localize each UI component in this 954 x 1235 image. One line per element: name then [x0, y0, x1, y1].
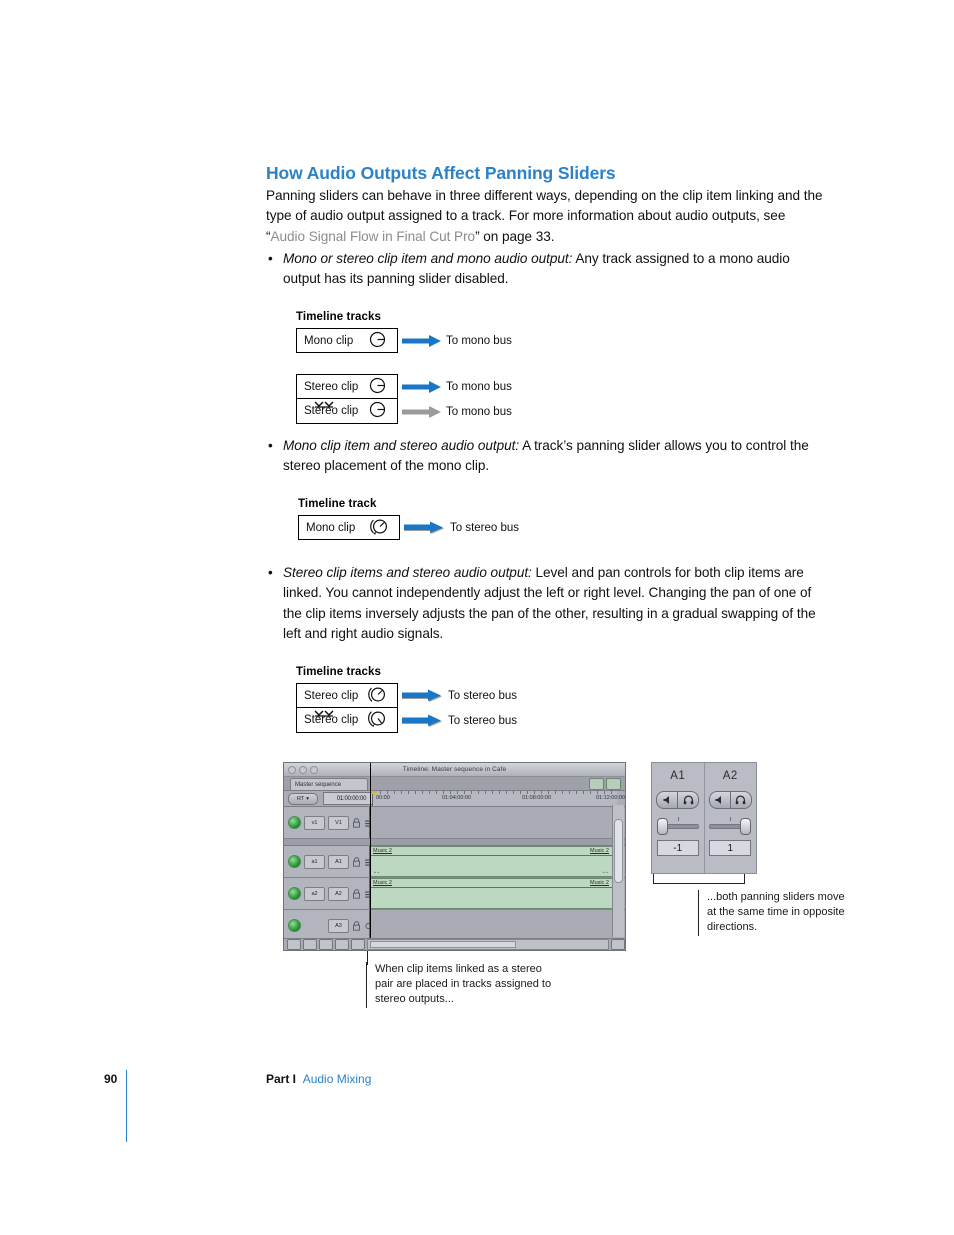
timeline-toggle-buttons[interactable] — [589, 778, 621, 790]
ruler-time-1: 01:04:00:00 — [442, 795, 471, 801]
arrow-mono-to-mono-bus: To mono bus — [402, 328, 512, 353]
track-header-v1[interactable]: v1 V1 — [284, 807, 370, 838]
track-group-mono: Mono clip To mono bus — [296, 328, 398, 353]
arrow-icon — [402, 334, 442, 348]
zoom-slider-icon[interactable] — [335, 939, 349, 950]
mute-icon[interactable] — [710, 792, 730, 808]
intro-text-after: ” on page 33. — [475, 229, 554, 244]
mute-icon[interactable] — [657, 792, 677, 808]
callout-left-text: When clip items linked as a stereo pair … — [366, 962, 560, 1008]
track-clip-label: Stereo clip — [304, 381, 358, 393]
channel-buttons-a1[interactable] — [656, 791, 699, 809]
footer-section: Audio Mixing — [303, 1072, 372, 1086]
bullet-text: Stereo clip items and stereo audio outpu… — [283, 563, 828, 645]
intro-cross-reference-link[interactable]: Audio Signal Flow in Final Cut Pro — [270, 229, 475, 244]
clip-level-line — [371, 855, 612, 856]
ruler-ticks — [372, 791, 617, 806]
track-group-stereo-pair-mono-out: Stereo clip Stereo clip — [296, 374, 398, 424]
arrow-label: To stereo bus — [450, 522, 519, 534]
arrow-stereo-top-to-stereo-bus: To stereo bus — [402, 683, 517, 708]
target-control-a2[interactable]: A2 — [328, 887, 349, 901]
footer-part: Part I — [266, 1072, 296, 1086]
stereo-link-icon — [314, 704, 338, 711]
track-group-stereo-pair-stereo-out: Stereo clip Stereo clip — [296, 683, 398, 733]
source-control-a2[interactable]: a2 — [304, 887, 325, 901]
stereo-link-icon: ⌄⌄ — [373, 869, 379, 875]
timeline-ruler[interactable]: RT ▾ 01:00:00:00 00:00 01:04:00:00 01:08… — [284, 791, 625, 807]
audio-waveform-icon[interactable] — [319, 939, 333, 950]
ruler-time-3: 01:12:00:00 — [596, 795, 625, 801]
arrow-icon — [402, 689, 444, 703]
table-row[interactable]: a1 A1 Music 2 Music 2 ⌄⌄ ⌄⌄ — [284, 846, 625, 878]
track-row-stereo-clip-bottom-2[interactable]: Stereo clip — [296, 708, 398, 733]
timeline-tracks: v1 V1 a1 A1 Music — [284, 807, 625, 951]
track-audible-icon[interactable] — [288, 887, 301, 900]
source-control-v1[interactable]: v1 — [304, 816, 325, 830]
window-title: Timeline: Master sequence in Cafe — [284, 766, 625, 773]
pan-knob-right-icon — [366, 684, 388, 707]
linked-selection-icon[interactable] — [589, 778, 604, 790]
track-body-a3[interactable] — [370, 910, 625, 941]
track-header-a1[interactable]: a1 A1 — [284, 846, 370, 877]
track-divider — [284, 839, 625, 846]
ruler-time-0: 00:00 — [376, 795, 390, 801]
diagram-stereo-stereo-output: Timeline tracks Stereo clip Stereo clip — [296, 666, 398, 733]
horizontal-scroll-thumb[interactable] — [370, 941, 516, 948]
lock-icon[interactable] — [352, 857, 361, 867]
stereo-link-icon: ⌄⌄ — [602, 869, 608, 875]
channel-buttons-a2[interactable] — [709, 791, 752, 809]
track-body-a2[interactable]: Music 2 Music 2 — [370, 878, 625, 909]
diagram3-label: Timeline tracks — [296, 666, 398, 678]
document-page: How Audio Outputs Affect Panning Sliders… — [0, 0, 954, 1235]
pan-value-a2[interactable]: 1 — [709, 840, 751, 856]
arrow-icon — [402, 380, 442, 394]
target-control-a4[interactable]: A4 — [328, 951, 349, 952]
ruler-time-2: 01:08:00:00 — [522, 795, 551, 801]
arrow-label: To stereo bus — [448, 690, 517, 702]
playhead-icon[interactable] — [370, 791, 378, 796]
timeline-window-screenshot[interactable]: Timeline: Master sequence in Cafe Master… — [283, 762, 626, 951]
bullet-text: Mono or stereo clip item and mono audio … — [283, 249, 828, 290]
track-group-mono-stereo: Mono clip To stereo bus — [298, 515, 400, 540]
source-control-a1[interactable]: a1 — [304, 855, 325, 869]
channel-name-a1: A1 — [670, 770, 685, 782]
rt-label: RT — [297, 796, 304, 802]
diagram-mono-output: Timeline tracks Mono clip To mono bus — [296, 311, 398, 424]
track-height-icon[interactable] — [303, 939, 317, 950]
pan-slider-thumb[interactable] — [657, 818, 668, 835]
pan-value-a1[interactable]: -1 — [657, 840, 699, 856]
channel-name-a2: A2 — [723, 770, 738, 782]
target-control-a3[interactable]: A3 — [328, 919, 349, 933]
track-clip-label: Stereo clip — [304, 690, 358, 702]
tab-master-sequence[interactable]: Master sequence — [290, 778, 368, 790]
snapping-icon[interactable] — [606, 778, 621, 790]
pan-knob-icon — [368, 516, 390, 539]
pan-knob-left-icon — [366, 709, 388, 732]
footer-rule — [126, 1070, 127, 1142]
close-icon[interactable] — [288, 766, 296, 774]
solo-headphone-icon[interactable] — [730, 792, 751, 808]
solo-headphone-icon[interactable] — [677, 792, 698, 808]
bullet-lead: Mono clip item and stereo audio output: — [283, 438, 519, 453]
lock-icon[interactable] — [352, 818, 361, 828]
track-header-a3[interactable]: A3 — [284, 910, 370, 941]
arrow-mono-to-stereo-bus: To stereo bus — [404, 515, 519, 540]
track-row-stereo-clip-top-2[interactable]: Stereo clip — [296, 683, 398, 708]
callout-bracket — [653, 874, 745, 884]
page-title: How Audio Outputs Affect Panning Sliders — [266, 163, 616, 184]
diagram2-label: Timeline track — [298, 498, 400, 510]
callout-right-text: ...both panning sliders move at the same… — [698, 890, 847, 936]
arrow-icon — [404, 521, 446, 535]
pan-center-tick — [678, 817, 679, 821]
track-visibility-icon[interactable] — [288, 816, 301, 829]
track-body-a1[interactable]: Music 2 Music 2 ⌄⌄ ⌄⌄ — [370, 846, 625, 877]
clip-music2-a2[interactable]: Music 2 Music 2 — [370, 878, 613, 909]
arrow-label: To mono bus — [446, 335, 512, 347]
track-clip-label: Mono clip — [304, 335, 353, 347]
bullet-marker: • — [268, 249, 283, 290]
target-control-a1[interactable]: A1 — [328, 855, 349, 869]
mixer-channel-a2[interactable]: A2 1 — [705, 763, 757, 873]
arrow-icon — [402, 714, 444, 728]
bullet-item-stereo-stereo-output: • Stereo clip items and stereo audio out… — [268, 563, 828, 645]
window-controls[interactable] — [288, 766, 318, 774]
track-row-mono-clip[interactable]: Mono clip — [296, 328, 398, 353]
arrow-label: To mono bus — [446, 406, 512, 418]
sequence-tabbar: Master sequence — [284, 777, 625, 791]
stereo-link-icon — [314, 395, 338, 402]
rt-popup-button[interactable]: RT ▾ — [288, 793, 318, 805]
horizontal-scrollbar[interactable] — [367, 939, 609, 950]
arrow-stereo-top-to-mono-bus: To mono bus — [402, 374, 512, 399]
track-header-a2[interactable]: a2 A2 — [284, 878, 370, 909]
vertical-scrollbar[interactable] — [612, 805, 624, 937]
bullet-lead: Mono or stereo clip item and mono audio … — [283, 251, 572, 266]
diagram-mono-stereo-output: Timeline track Mono clip T — [298, 498, 400, 540]
intro-paragraph: Panning sliders can behave in three diff… — [266, 186, 828, 247]
pan-slider-thumb[interactable] — [740, 818, 751, 835]
track-audible-icon[interactable] — [288, 855, 301, 868]
clip-label-right: Music 2 — [590, 880, 609, 886]
table-row[interactable]: v1 V1 — [284, 807, 625, 839]
edit-line — [370, 763, 371, 950]
arrow-stereo-bottom-to-mono-bus: To mono bus — [402, 399, 512, 424]
track-body-v1[interactable] — [370, 807, 625, 838]
clip-overlays-icon[interactable] — [287, 939, 301, 950]
diagram1-label: Timeline tracks — [296, 311, 398, 323]
target-control-v1[interactable]: V1 — [328, 816, 349, 830]
lock-icon[interactable] — [352, 921, 361, 931]
arrow-label: To stereo bus — [448, 715, 517, 727]
mixer-columns: A1 -1 A2 — [652, 763, 756, 873]
minimize-icon[interactable] — [299, 766, 307, 774]
arrow-icon — [402, 405, 442, 419]
track-audible-icon[interactable] — [288, 919, 301, 932]
vertical-scroll-thumb[interactable] — [614, 819, 623, 883]
clip-label-left: Music 2 — [373, 880, 392, 886]
bullet-marker: • — [268, 563, 283, 645]
lock-icon[interactable] — [352, 889, 361, 899]
pan-disabled-icon — [369, 377, 386, 397]
track-clip-label: Mono clip — [306, 522, 355, 534]
scroll-right-icon[interactable] — [611, 939, 625, 950]
track-row-mono-clip-stereo[interactable]: Mono clip — [298, 515, 400, 540]
footer-breadcrumb: Part I Audio Mixing — [266, 1072, 371, 1086]
page-number: 90 — [104, 1072, 117, 1086]
arrow-label: To mono bus — [446, 381, 512, 393]
track-row-stereo-clip-bottom[interactable]: Stereo clip — [296, 399, 398, 424]
window-titlebar: Timeline: Master sequence in Cafe — [284, 763, 625, 777]
arrow-stereo-bottom-to-stereo-bus: To stereo bus — [402, 708, 517, 733]
bullet-lead: Stereo clip items and stereo audio outpu… — [283, 565, 532, 580]
clip-label-left: Music 2 — [373, 848, 392, 854]
mixer-panning-panel[interactable]: A1 -1 A2 — [651, 762, 757, 874]
pan-slider-a1[interactable] — [657, 817, 699, 833]
clip-music2-a1[interactable]: Music 2 Music 2 ⌄⌄ ⌄⌄ — [370, 846, 613, 877]
pan-disabled-icon — [369, 401, 386, 421]
track-row-stereo-clip-top[interactable]: Stereo clip — [296, 374, 398, 399]
bullet-text: Mono clip item and stereo audio output: … — [283, 436, 828, 477]
pan-slider-a2[interactable] — [709, 817, 751, 833]
bullet-item-mono-stereo-output: • Mono clip item and stereo audio output… — [268, 436, 828, 477]
pan-disabled-icon — [369, 331, 386, 351]
pan-center-tick — [730, 817, 731, 821]
mixer-channel-a1[interactable]: A1 -1 — [652, 763, 705, 873]
bullet-marker: • — [268, 436, 283, 477]
table-row[interactable]: a2 A2 Music 2 Music 2 — [284, 878, 625, 910]
bullet-item-mono-output: • Mono or stereo clip item and mono audi… — [268, 249, 828, 290]
clip-label-right: Music 2 — [590, 848, 609, 854]
timeline-bottom-bar[interactable] — [284, 938, 625, 950]
zoom-icon[interactable] — [310, 766, 318, 774]
clip-level-line — [371, 887, 612, 888]
scroll-left-icon[interactable] — [351, 939, 365, 950]
chevron-down-icon: ▾ — [306, 796, 309, 802]
